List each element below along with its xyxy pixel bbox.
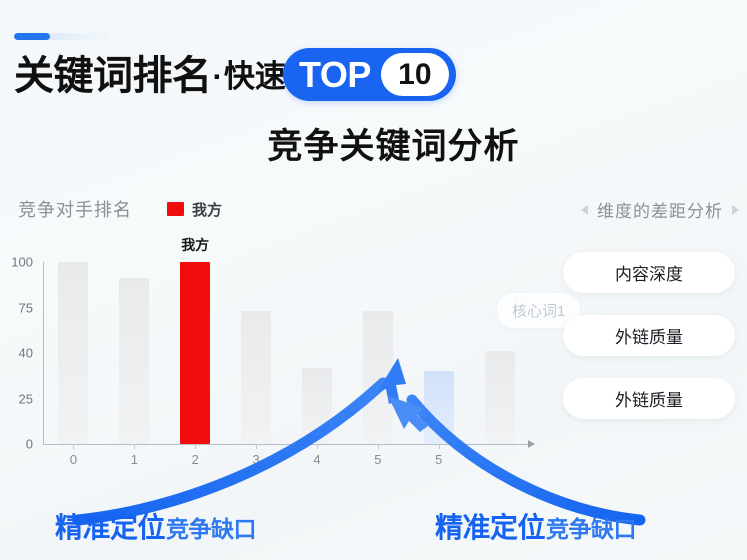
x-tick-label: 4 <box>313 452 320 467</box>
x-tick-label: 5 <box>435 452 442 467</box>
x-tick-mark <box>256 444 257 449</box>
x-tick-mark <box>378 444 379 449</box>
caption-left-strong: 精准定位 <box>55 506 165 546</box>
chart-legend: 我方 <box>167 199 222 220</box>
chart-section-title: 竞争对手排名 <box>18 196 132 222</box>
y-tick-label: 25 <box>19 391 43 406</box>
legend-swatch-icon <box>167 202 184 216</box>
x-tick-label: 5 <box>374 452 381 467</box>
x-tick-label: 0 <box>70 452 77 467</box>
caption-right-weak: 竞争缺口 <box>546 510 636 544</box>
chart-bar <box>119 278 149 444</box>
chart-bar <box>58 262 88 444</box>
headline-main-text: 关键词排名 <box>14 56 212 96</box>
chart-bar-highlight-label: 我方 <box>181 235 209 255</box>
y-tick-label: 75 <box>19 300 43 315</box>
y-tick-label: 0 <box>26 437 43 452</box>
x-tick-mark <box>73 444 74 449</box>
headline-separator: · <box>213 61 223 92</box>
dimension-gap-label: 维度的差距分析 <box>597 197 723 222</box>
caption-right: 精准定位 竞争缺口 <box>435 506 636 546</box>
x-tick-mark <box>317 444 318 449</box>
x-tick-label: 3 <box>252 452 259 467</box>
dimension-pill[interactable]: 内容深度 <box>563 252 735 293</box>
x-tick-label: 2 <box>192 452 199 467</box>
x-tick-mark <box>195 444 196 449</box>
dimension-gap-header: 维度的差距分析 <box>581 197 739 222</box>
dimension-pill[interactable]: 外链质量 <box>563 378 735 419</box>
chart-bars: 我方 <box>43 262 530 444</box>
chart-header: 竞争对手排名 我方 <box>18 196 222 222</box>
x-tick-mark <box>134 444 135 449</box>
caption-left: 精准定位 竞争缺口 <box>55 506 256 546</box>
chart-bar <box>302 368 332 444</box>
chart-bar: 我方 <box>180 262 210 444</box>
dimension-pill-list: 内容深度外链质量外链质量 <box>563 252 735 419</box>
competitor-ranking-chart: 1007540250 我方 0123455 <box>0 248 560 463</box>
badge-top-label: TOP <box>299 57 371 93</box>
chart-bar <box>241 311 271 444</box>
chevron-right-icon <box>732 205 739 215</box>
caption-right-strong: 精准定位 <box>435 506 545 546</box>
x-tick-label: 1 <box>131 452 138 467</box>
y-tick-label: 40 <box>19 346 43 361</box>
progress-decoration <box>14 33 110 40</box>
progress-decoration-fill <box>14 33 50 40</box>
top-rank-badge: TOP 10 <box>283 48 456 101</box>
headline-sub-text: 快速 <box>224 61 286 92</box>
chart-bar <box>485 351 515 444</box>
x-tick-mark <box>439 444 440 449</box>
legend-label: 我方 <box>192 199 222 220</box>
chart-x-axis <box>43 444 530 445</box>
page-subtitle: 竞争关键词分析 <box>0 118 747 169</box>
caption-left-weak: 竞争缺口 <box>166 510 256 544</box>
dimension-pill[interactable]: 外链质量 <box>563 315 735 356</box>
page-headline: 关键词排名 · 快速 <box>14 48 286 104</box>
chart-bar <box>363 311 393 444</box>
y-tick-label: 100 <box>11 255 43 270</box>
chevron-left-icon <box>581 205 588 215</box>
chart-bar <box>424 371 454 444</box>
badge-number: 10 <box>381 53 449 96</box>
